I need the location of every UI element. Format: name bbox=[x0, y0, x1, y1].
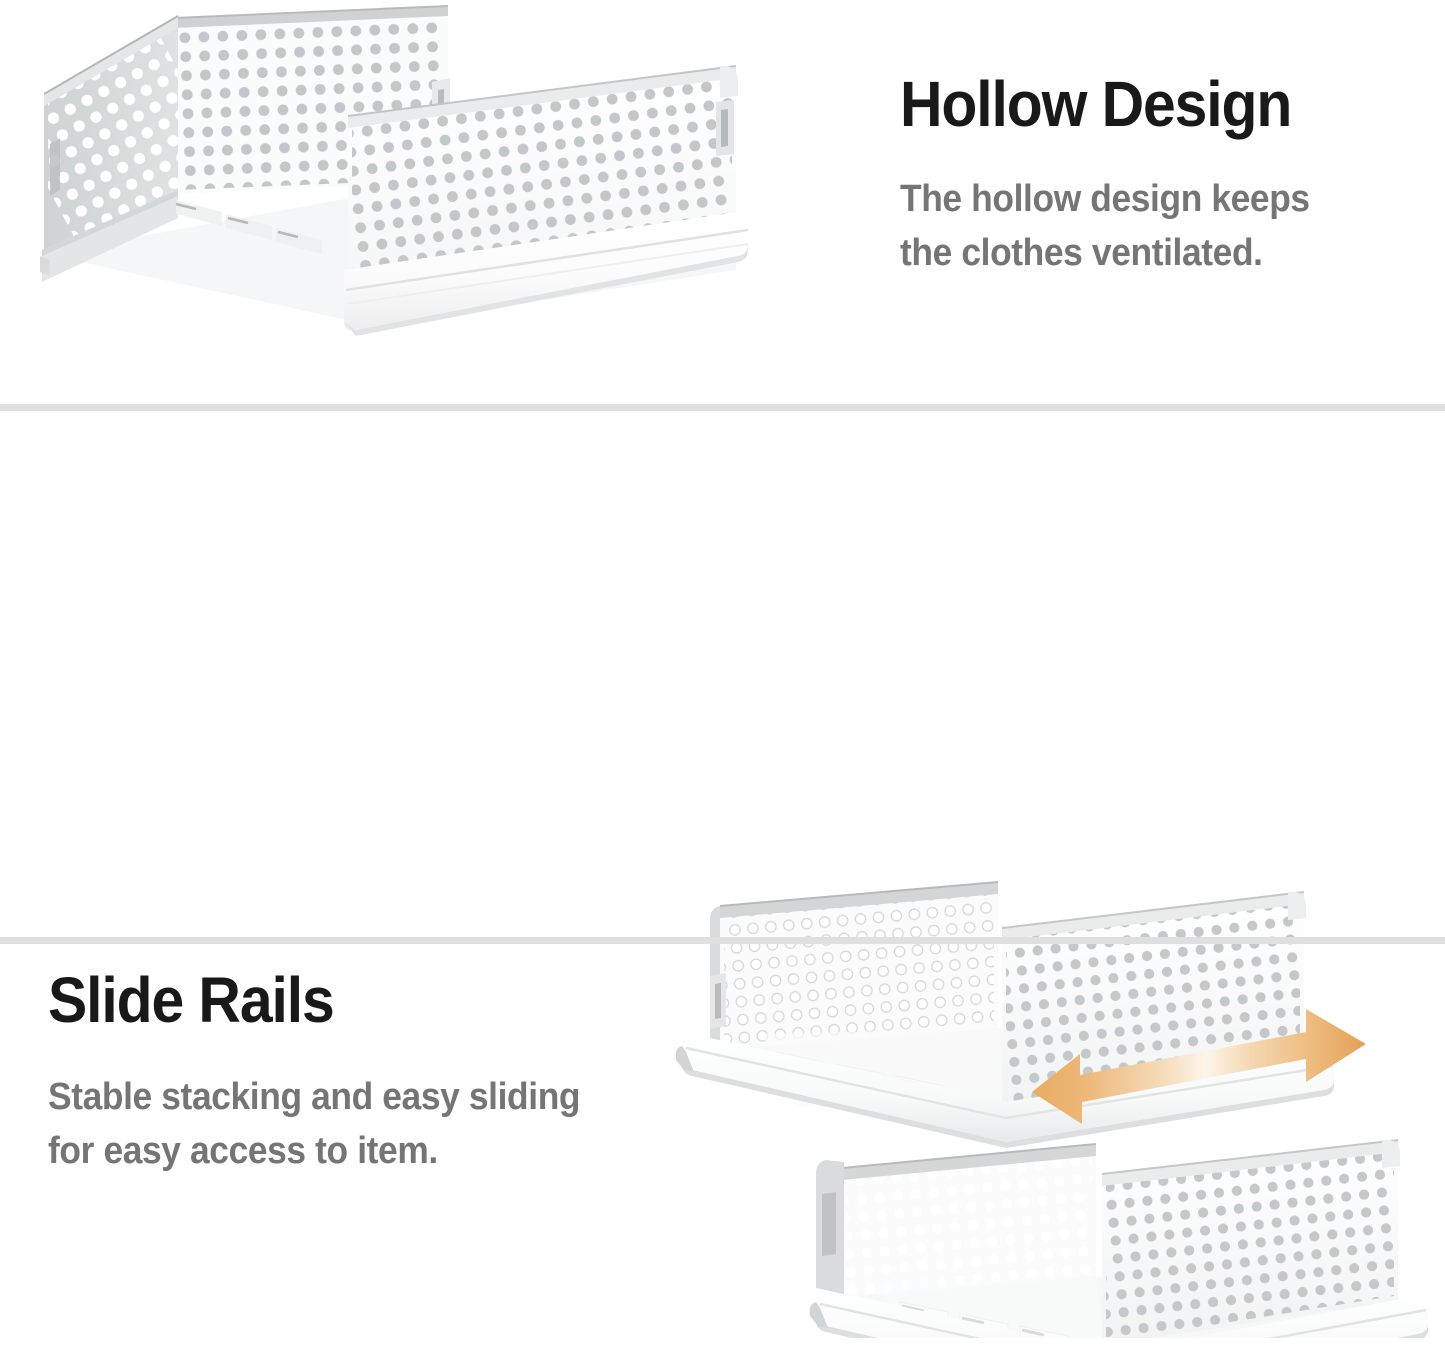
section-divider-1 bbox=[0, 404, 1445, 411]
feature-section-slide-rails: Slide Rails Stable stacking and easy sli… bbox=[0, 412, 1445, 943]
hollow-design-description: The hollow design keeps the clothes vent… bbox=[900, 173, 1384, 281]
hollow-design-description-line-1: The hollow design keeps bbox=[900, 173, 1384, 227]
hollow-design-text-block: Hollow Design The hollow design keeps th… bbox=[900, 72, 1420, 281]
hollow-design-title: Hollow Design bbox=[900, 72, 1378, 137]
basket-angled-image bbox=[26, 4, 796, 396]
feature-section-hollow-design: Hollow Design The hollow design keeps th… bbox=[0, 0, 1445, 410]
basket-hinge-tab-front bbox=[716, 100, 734, 156]
hollow-design-description-line-2: the clothes ventilated. bbox=[900, 227, 1384, 281]
section-divider-2 bbox=[0, 937, 1445, 944]
feature-section-reinforced-snap: Reinforced Snap Reinforced buckles to in… bbox=[0, 945, 1445, 1358]
product-feature-infographic: Hollow Design The hollow design keeps th… bbox=[0, 0, 1445, 1358]
